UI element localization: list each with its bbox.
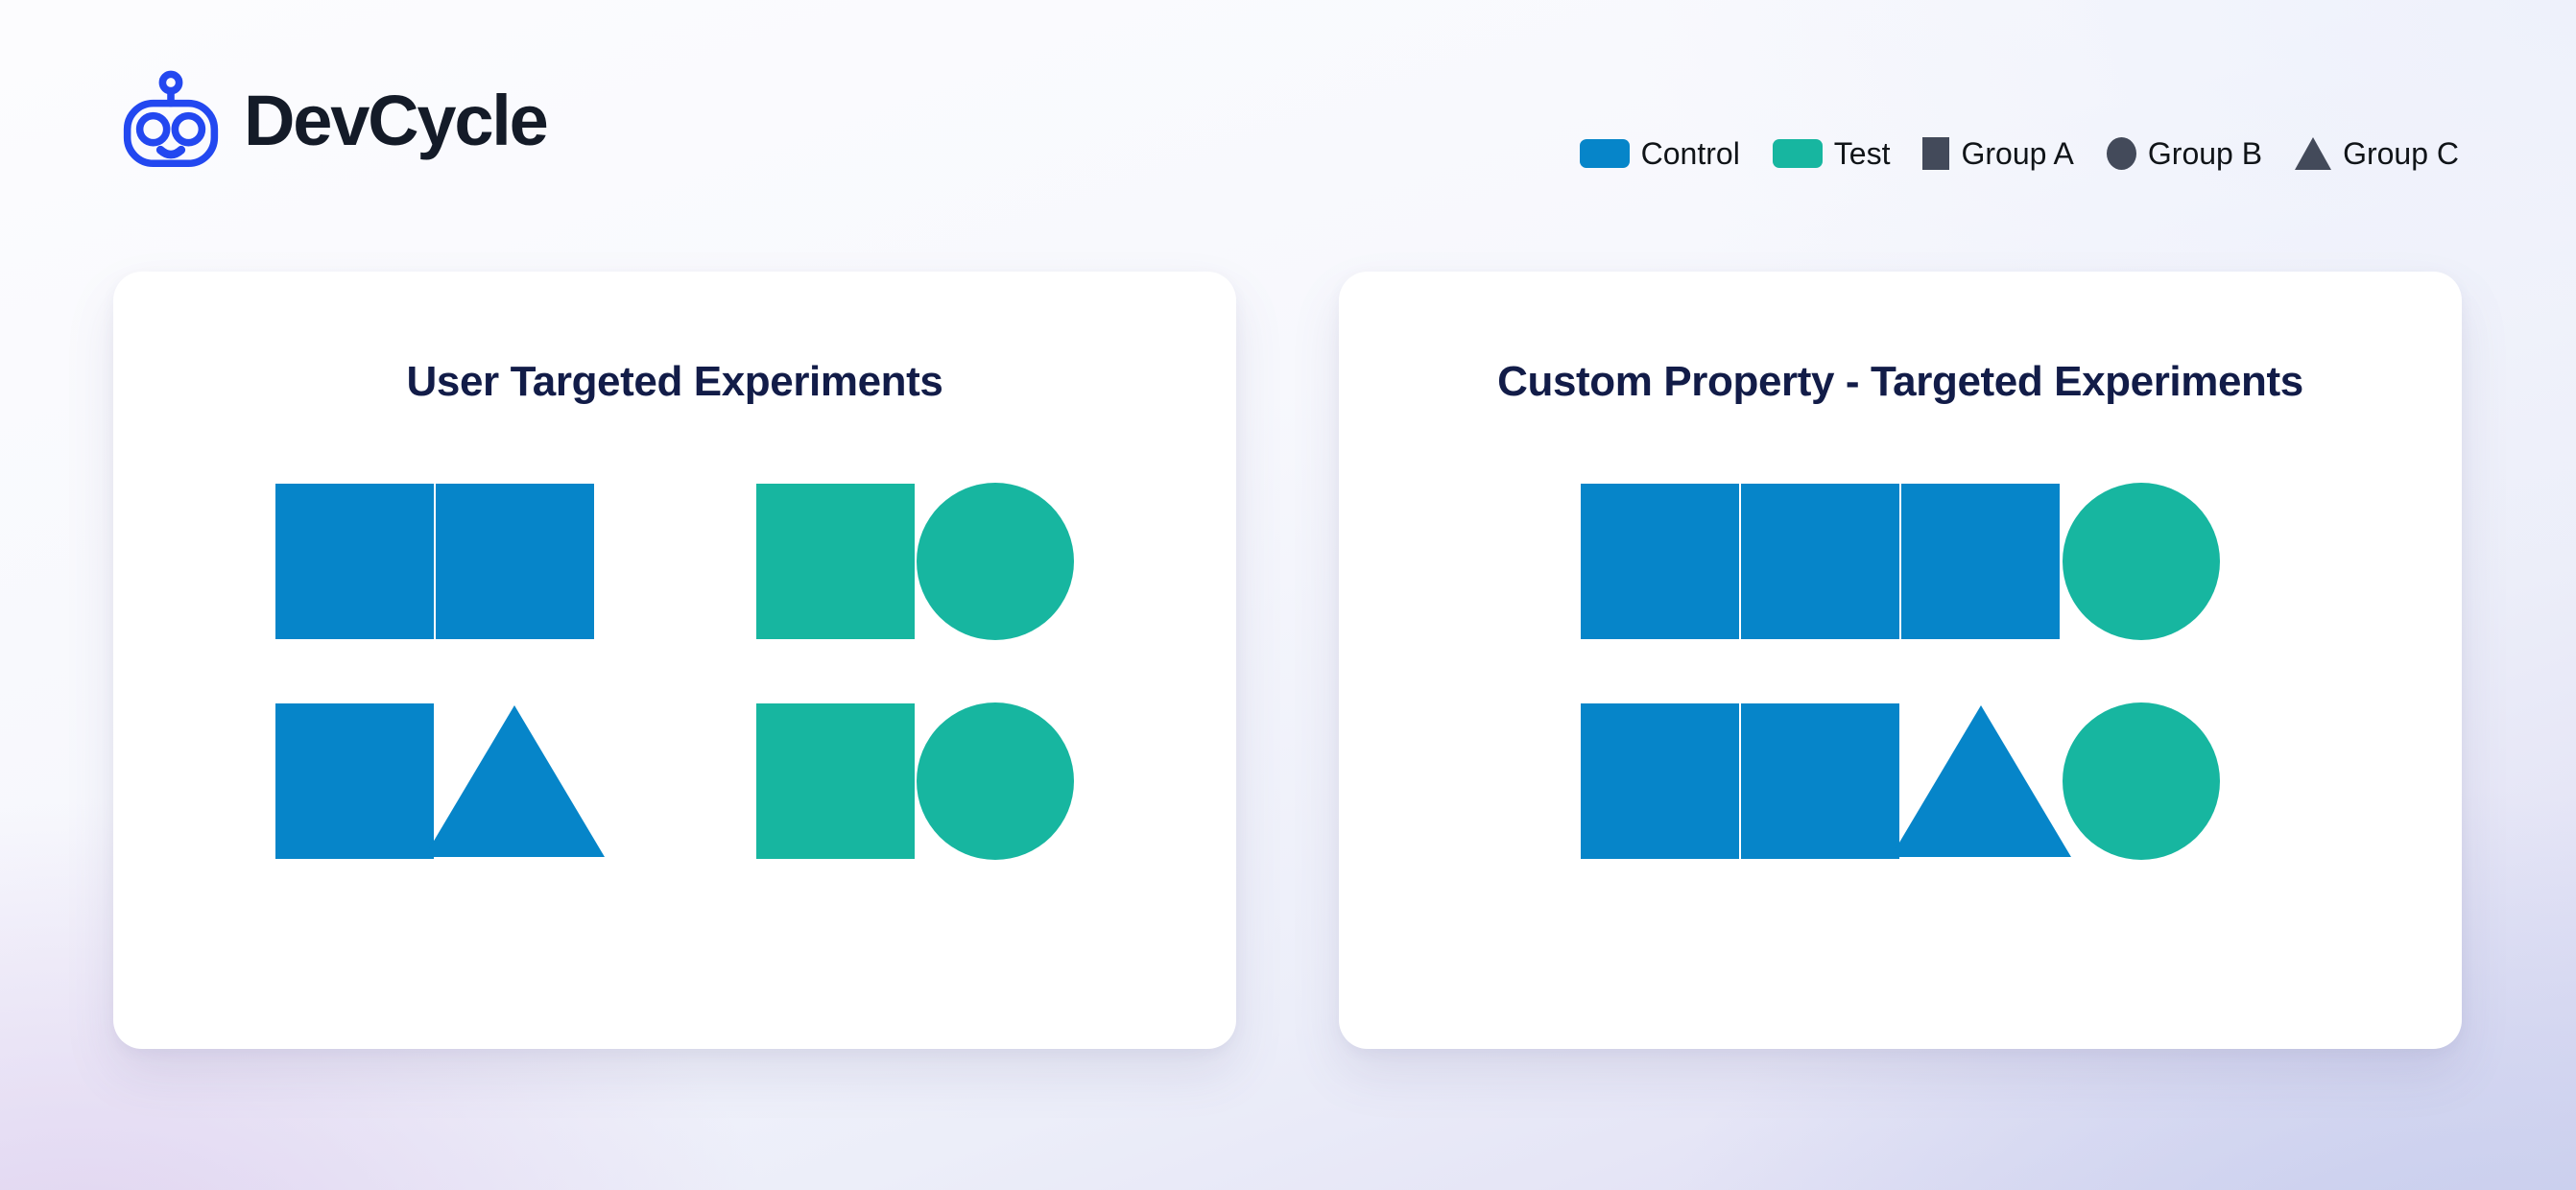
- page-title: Custom Property - Targeted Experiments: [1339, 272, 2462, 403]
- control-triangle-shape: [424, 705, 605, 857]
- test-square-shape: [756, 484, 915, 639]
- control-square-shape: [1901, 484, 2060, 639]
- shape-cell: [755, 483, 916, 640]
- shape-cell: [1740, 702, 1900, 860]
- shape-row: [1580, 483, 2221, 640]
- shape-grid: [1339, 483, 2462, 860]
- control-square-shape: [436, 484, 594, 639]
- shape-grid: [113, 483, 1236, 860]
- shape-cell: [916, 702, 1076, 860]
- shape-cell: [274, 702, 435, 860]
- control-square-shape: [1581, 484, 1739, 639]
- test-circle-shape: [917, 483, 1074, 640]
- test-circle-shape: [917, 702, 1074, 860]
- shape-cell: [1740, 483, 1900, 640]
- shape-cell: [1580, 702, 1740, 860]
- shape-cell: [755, 702, 916, 860]
- shape-cell: [274, 483, 435, 640]
- shape-cell: [1900, 702, 2061, 860]
- test-circle-shape: [2063, 483, 2220, 640]
- shape-cell: [2061, 483, 2221, 640]
- shape-row: [274, 702, 1076, 860]
- control-square-shape: [1741, 703, 1899, 859]
- shape-cell: [1900, 483, 2061, 640]
- shape-row: [274, 483, 1076, 640]
- card-custom-property-targeted-experiments: Custom Property - Targeted Experiments: [1339, 272, 2462, 1049]
- shape-cell: [2061, 702, 2221, 860]
- control-triangle-shape: [1891, 705, 2071, 857]
- shape-cell: [435, 483, 595, 640]
- card-user-targeted-experiments: User Targeted Experiments: [113, 272, 1236, 1049]
- shape-row: [1580, 702, 2221, 860]
- control-square-shape: [1741, 484, 1899, 639]
- test-square-shape: [756, 703, 915, 859]
- shape-cell: [916, 483, 1076, 640]
- cards-container: User Targeted Experiments Custom Propert…: [0, 0, 2576, 1190]
- control-square-shape: [1581, 703, 1739, 859]
- test-circle-shape: [2063, 702, 2220, 860]
- control-square-shape: [275, 484, 434, 639]
- page-title: User Targeted Experiments: [113, 272, 1236, 403]
- control-square-shape: [275, 703, 434, 859]
- shape-cell: [435, 702, 595, 860]
- shape-cell: [1580, 483, 1740, 640]
